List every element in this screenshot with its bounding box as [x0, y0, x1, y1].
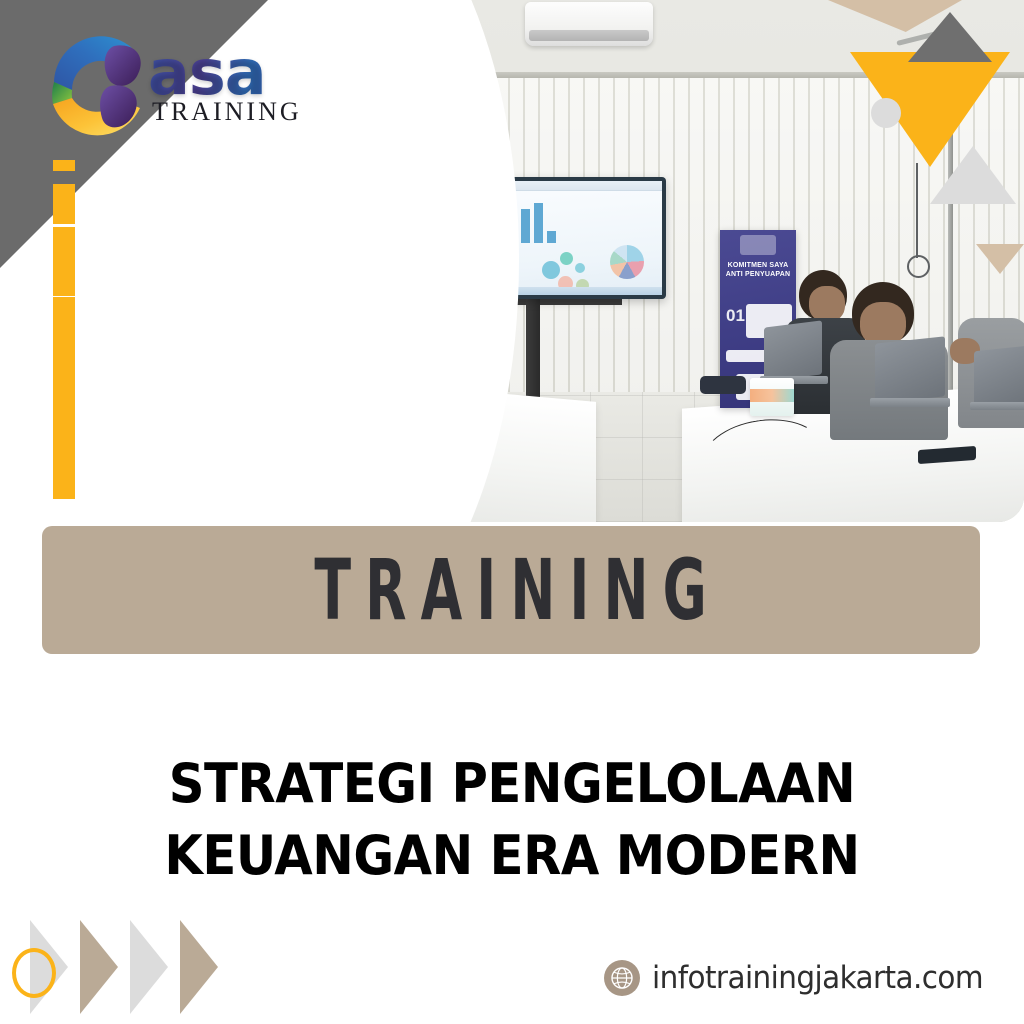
logo-wordmark: asa TRAINING [148, 44, 302, 127]
gray-ring-icon [907, 255, 930, 278]
dashboard-bubble-1 [542, 261, 560, 279]
tissue-box-right-band [750, 389, 794, 402]
training-banner: TRAINING [42, 526, 980, 654]
tan-triangle-down-icon [976, 244, 1024, 274]
chevron-arrows-decor [8, 918, 208, 1018]
logo-word-asa: asa [148, 44, 302, 101]
website-footer[interactable]: infotrainingjakarta.com [604, 960, 1000, 996]
chevron-2-icon [80, 920, 118, 1014]
chevron-3-icon [130, 920, 168, 1014]
dashboard-bubble-2 [560, 252, 573, 265]
phone-dark-item [700, 376, 746, 394]
logo-subtitle-training: TRAINING [152, 97, 302, 127]
laptop-2-lid [875, 336, 945, 403]
title-line-2: KEUANGAN ERA MODERN [41, 820, 983, 892]
gray-circle-icon [871, 98, 901, 128]
training-banner-label: TRAINING [301, 548, 722, 632]
dashboard-bubble-5 [575, 263, 585, 273]
laptop-3-lid [974, 345, 1024, 408]
rollup-item1-number: 01 [726, 306, 745, 326]
title-line-1: STRATEGI PENGELOLAAN [41, 748, 983, 820]
yellow-bar-3 [53, 227, 75, 296]
gray-triangle-up-icon [908, 12, 992, 62]
yellow-bar-1 [53, 160, 75, 171]
globe-icon [604, 960, 640, 996]
casa-training-logo: asa TRAINING [36, 20, 302, 152]
yellow-bar-2 [53, 184, 75, 224]
casa-circular-logo-icon [36, 20, 166, 152]
photo-circular-mask [330, 0, 519, 522]
hanging-line [916, 163, 918, 258]
tissue-box-right [750, 378, 794, 416]
dashboard-pie-chart [610, 245, 644, 279]
laptop-3 [970, 348, 1024, 418]
chevron-4-icon [180, 920, 218, 1014]
laptop-1-lid [764, 320, 822, 381]
light-gray-triangle-up-icon [930, 146, 1016, 204]
laptop-2 [870, 340, 948, 414]
yellow-ring-icon [12, 948, 56, 998]
laptop-3-base [970, 402, 1024, 410]
rollup-header-graphic [740, 235, 776, 255]
poster-canvas: KOMITMEN SAYA ANTI PENYUAPAN 01 02 [0, 0, 1024, 1024]
page-title: STRATEGI PENGELOLAAN KEUANGAN ERA MODERN [0, 748, 1024, 892]
yellow-bar-4 [53, 297, 75, 499]
air-conditioner-icon [525, 2, 653, 46]
website-url-text: infotrainingjakarta.com [652, 960, 983, 996]
laptop-2-base [870, 398, 950, 407]
